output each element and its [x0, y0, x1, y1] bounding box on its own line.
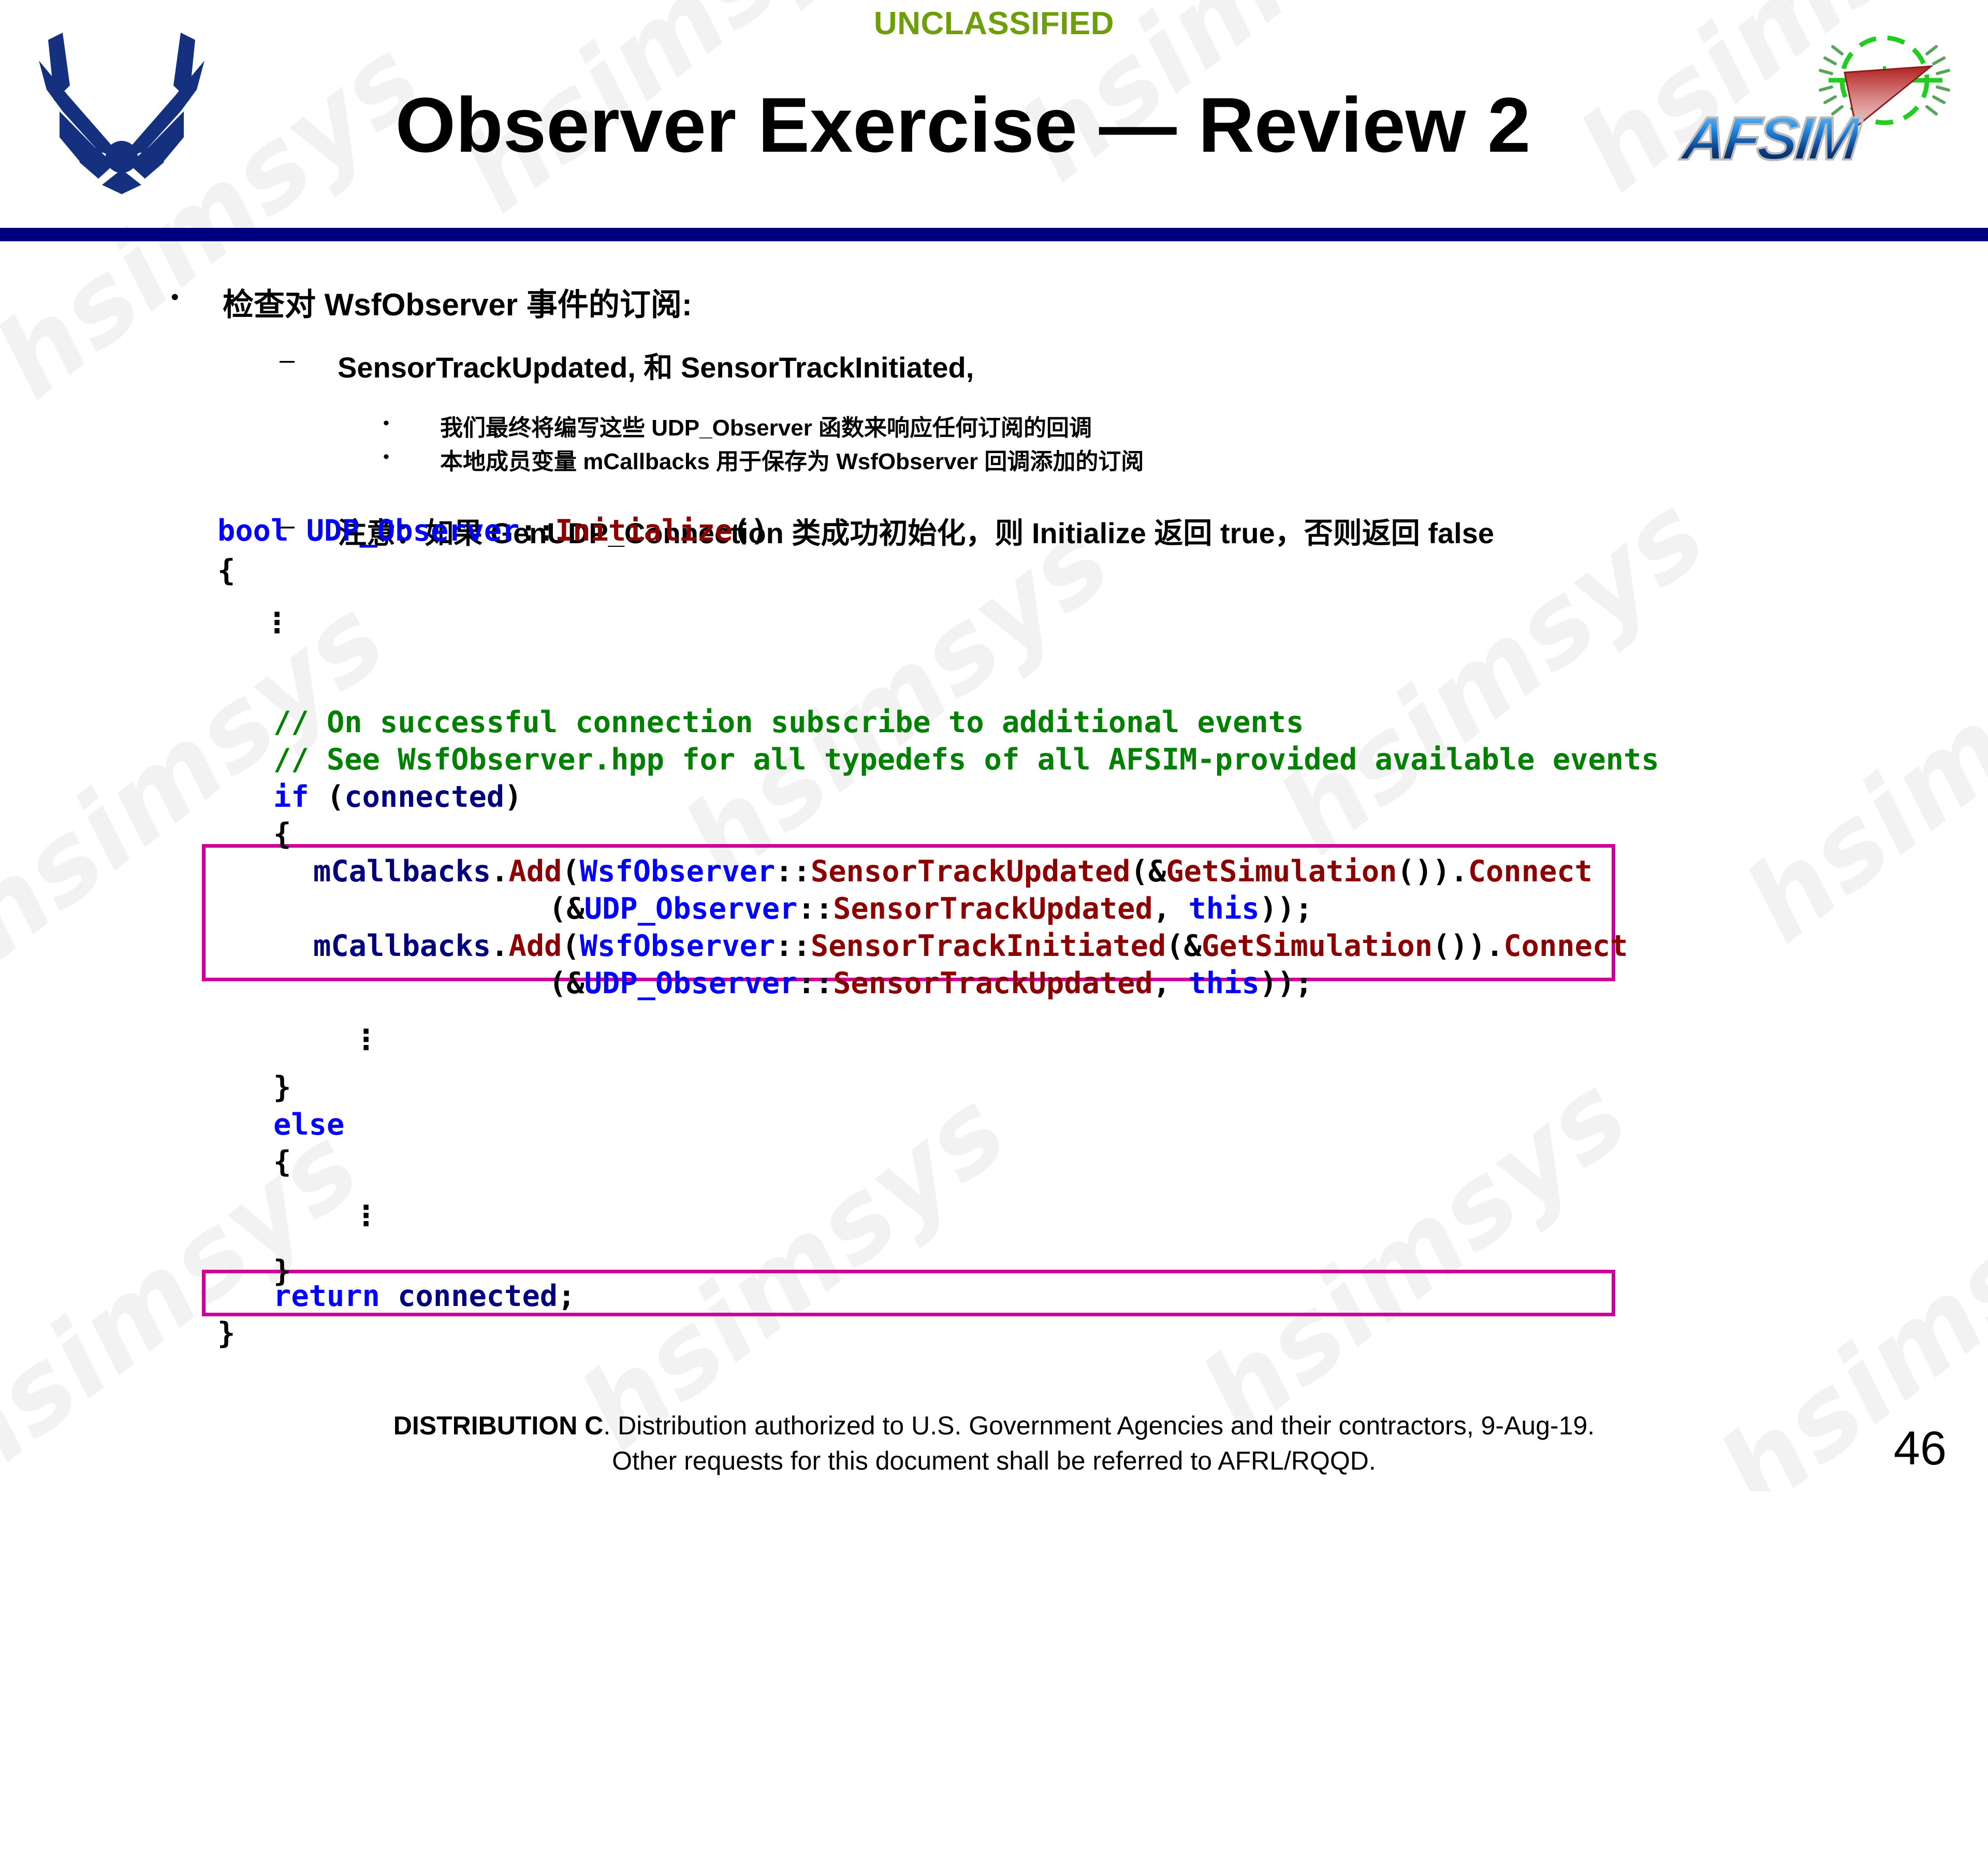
- code-token-scope: ::: [775, 854, 811, 889]
- code-token-dot: .: [491, 929, 508, 963]
- code-line-close-brace-3: }: [217, 1315, 235, 1352]
- code-token-connect: Connect: [1503, 929, 1628, 963]
- code-block: bool UDP_Observer::Initialize() { ⋮ // O…: [0, 513, 1988, 1873]
- afsim-logo-text: AFSIM: [1679, 104, 1861, 174]
- code-token-scope: ::: [797, 966, 833, 1000]
- code-token-mcallbacks: mCallbacks: [313, 854, 491, 889]
- code-token-if: if: [273, 780, 309, 814]
- bullet-text: 检查对 WsfObserver 事件的订阅:: [223, 280, 692, 325]
- code-token-udpobserver: UDP_Observer: [584, 966, 798, 1000]
- code-token-member: SensorTrackUpdated: [833, 892, 1153, 926]
- bullet-marker: –: [280, 344, 338, 373]
- footer-requests-line: Other requests for this document shall b…: [0, 1444, 1988, 1479]
- code-token-space: [288, 514, 306, 548]
- bullet-marker: •: [171, 280, 223, 309]
- code-line-close-brace-1: }: [273, 1069, 291, 1106]
- classification-banner: UNCLASSIFIED: [0, 5, 1988, 42]
- code-line-comment-2: // See WsfObserver.hpp for all typedefs …: [273, 742, 1659, 778]
- page-number: 46: [1894, 1421, 1947, 1476]
- code-line-callback-1a: mCallbacks.Add(WsfObserver::SensorTrackU…: [313, 853, 1592, 890]
- code-token-open-amp: (&: [549, 966, 584, 1000]
- code-token-paren-open: (: [309, 780, 345, 814]
- code-token-open-amp: (&: [549, 892, 584, 926]
- code-ellipsis-2: ⋮: [352, 1033, 380, 1047]
- code-token-amp: (&: [1131, 854, 1166, 889]
- slide-footer: DISTRIBUTION C. Distribution authorized …: [0, 1409, 1988, 1478]
- code-token-event: SensorTrackUpdated: [811, 854, 1131, 889]
- code-token-connect: Connect: [1468, 854, 1592, 889]
- code-line-callback-2a: mCallbacks.Add(WsfObserver::SensorTrackI…: [313, 928, 1628, 965]
- code-token-event: SensorTrackInitiated: [811, 929, 1166, 963]
- code-token-dot: .: [491, 854, 508, 889]
- code-token-this: this: [1188, 966, 1259, 1000]
- header-divider: [0, 228, 1988, 241]
- code-token-add: Add: [509, 929, 562, 963]
- code-token-return: return: [273, 1279, 380, 1313]
- code-token-getsimulation: GetSimulation: [1166, 854, 1397, 889]
- code-line-callback-1b: (&UDP_Observer::SensorTrackUpdated, this…: [549, 891, 1313, 927]
- footer-distribution-text: . Distribution authorized to U.S. Govern…: [603, 1411, 1595, 1440]
- code-token-parens: (): [733, 514, 768, 548]
- bullet-text: 我们最终将编写这些 UDP_Observer 函数来响应任何订阅的回调: [440, 409, 1092, 442]
- code-token-comma: ,: [1153, 966, 1189, 1000]
- code-token-udpobserver: UDP_Observer: [584, 892, 798, 926]
- afsim-logo-icon: AFSIM: [1677, 26, 1978, 181]
- footer-distribution-line: DISTRIBUTION C. Distribution authorized …: [0, 1409, 1988, 1444]
- code-line-open-brace-1: {: [217, 553, 235, 589]
- code-token-member: SensorTrackUpdated: [833, 966, 1153, 1000]
- code-token-scope: ::: [797, 892, 833, 926]
- code-token-amp: (&: [1166, 929, 1202, 963]
- code-token-wsfobserver: WsfObserver: [580, 929, 776, 963]
- code-line-open-brace-3: {: [273, 1144, 291, 1181]
- code-token-scope: ::: [519, 514, 555, 548]
- code-ellipsis-1: ⋮: [263, 616, 291, 630]
- code-ellipsis-3: ⋮: [352, 1209, 380, 1223]
- bullet-marker: •: [383, 443, 440, 466]
- code-token-open-paren: (: [562, 929, 579, 963]
- bullet-level3-mcallbacks: • 本地成员变量 mCallbacks 用于保存为 WsfObserver 回调…: [383, 443, 1144, 476]
- code-token-semicolon: ;: [558, 1279, 575, 1313]
- page-title: Observer Exercise — Review 2: [321, 80, 1605, 170]
- bullet-level3-udpobserver: • 我们最终将编写这些 UDP_Observer 函数来响应任何订阅的回调: [383, 409, 1092, 442]
- code-token-tail: ));: [1260, 966, 1313, 1000]
- footer-distribution-label: DISTRIBUTION C: [393, 1411, 604, 1440]
- code-token-type: bool: [217, 514, 288, 548]
- code-line-else: else: [273, 1107, 344, 1143]
- code-token-function: Initialize: [555, 514, 733, 548]
- bullet-text: SensorTrackUpdated, 和 SensorTrackInitiat…: [338, 344, 974, 386]
- code-token-open-paren: (: [562, 854, 579, 889]
- code-line-signature: bool UDP_Observer::Initialize(): [217, 513, 768, 549]
- code-line-callback-2b: (&UDP_Observer::SensorTrackUpdated, this…: [549, 965, 1313, 1002]
- bullet-level1: • 检查对 WsfObserver 事件的订阅:: [171, 280, 692, 325]
- code-token-scope: ::: [775, 929, 811, 963]
- bullet-text: 本地成员变量 mCallbacks 用于保存为 WsfObserver 回调添加…: [440, 443, 1144, 476]
- code-token-return-value: connected: [380, 1279, 558, 1313]
- code-line-if: if (connected): [273, 779, 522, 816]
- code-token-mcallbacks: mCallbacks: [313, 929, 491, 963]
- code-token-condition: connected: [344, 780, 504, 814]
- code-line-open-brace-2: {: [273, 816, 291, 853]
- code-token-comma: ,: [1153, 892, 1189, 926]
- bullet-level2-events: – SensorTrackUpdated, 和 SensorTrackIniti…: [280, 344, 974, 386]
- code-token-getsimulation: GetSimulation: [1202, 929, 1432, 963]
- code-token-this: this: [1188, 892, 1259, 926]
- code-line-comment-1: // On successful connection subscribe to…: [273, 704, 1304, 741]
- us-air-force-logo-icon: [18, 23, 225, 194]
- code-line-return: return connected;: [273, 1278, 575, 1315]
- code-token-tail: ()).: [1397, 854, 1468, 889]
- code-token-tail: ));: [1260, 892, 1313, 926]
- code-token-wsfobserver: WsfObserver: [580, 854, 776, 889]
- code-token-class: UDP_Observer: [306, 514, 520, 548]
- code-token-tail: ()).: [1432, 929, 1503, 963]
- code-token-add: Add: [509, 854, 562, 889]
- bullet-marker: •: [383, 409, 440, 432]
- code-token-paren-close: ): [504, 780, 522, 814]
